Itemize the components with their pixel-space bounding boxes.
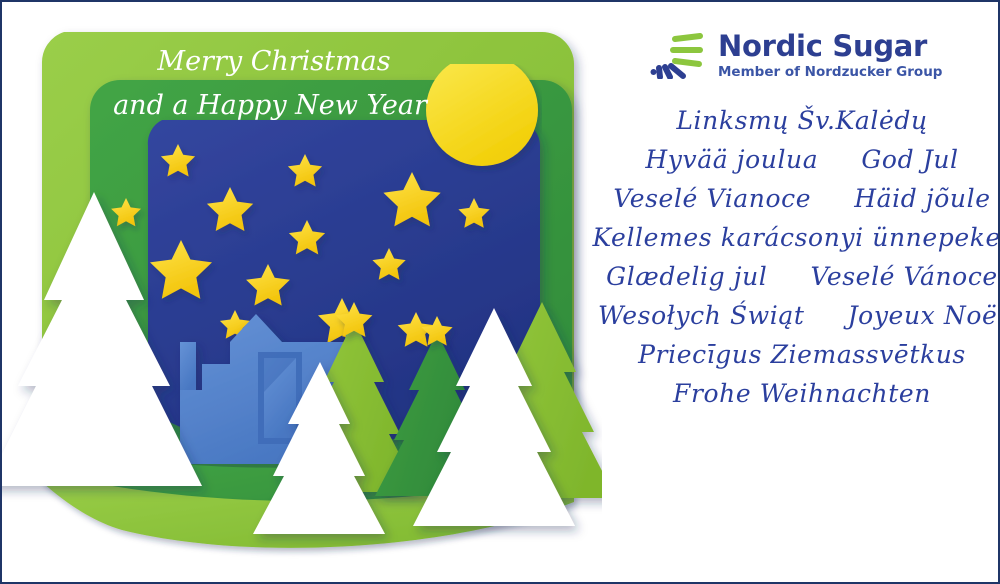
greeting-et: Häid jõule <box>854 184 990 213</box>
greeting-line-da-cs: Glædelig jul Veselé Vánoce <box>606 262 998 291</box>
headline-line1: Merry Christmas <box>156 46 390 77</box>
greeting-de: Frohe Weihnachten <box>673 379 931 408</box>
greeting-lt: Linksmų Šv.Kalėdų <box>676 106 927 135</box>
headline-line2: and a Happy New Year <box>113 90 429 121</box>
greeting-line-lt: Linksmų Šv.Kalėdų <box>676 106 927 135</box>
multilingual-greetings: Linksmų Šv.Kalėdų Hyvää joulua God Jul V… <box>602 106 1000 408</box>
greeting-sv: God Jul <box>861 145 958 174</box>
greeting-line-lv: Priecīgus Ziemassvētkus <box>638 340 966 369</box>
sun <box>426 54 538 166</box>
greeting-cs: Veselé Vánoce <box>811 262 998 291</box>
greeting-fi: Hyvää joulua <box>645 145 818 174</box>
greeting-line-hu: Kellemes karácsonyi ünnepeket <box>592 223 1000 252</box>
message-panel: Nordic Sugar Member of Nordzucker Group … <box>602 2 1000 584</box>
greeting-line-pl-fr: Wesołych Świąt Joyeux Noël <box>598 301 1000 330</box>
greeting-line-sk-et: Veselé Vianoce Häid jõule <box>613 184 990 213</box>
christmas-illustration: Merry Christmas and a Happy New Year <box>2 2 602 584</box>
greeting-sk: Veselé Vianoce <box>613 184 811 213</box>
greeting-card: Merry Christmas and a Happy New Year <box>0 0 1000 584</box>
logo-subtitle: Member of Nordzucker Group <box>718 66 942 80</box>
greeting-da: Glædelig jul <box>606 262 767 291</box>
greeting-line-fi-sv: Hyvää joulua God Jul <box>645 145 958 174</box>
sunburst-logo-icon <box>650 33 706 79</box>
logo-title: Nordic Sugar <box>718 32 942 61</box>
greeting-fr: Joyeux Noël <box>848 301 1000 330</box>
nordic-sugar-logo: Nordic Sugar Member of Nordzucker Group <box>602 32 1000 80</box>
greeting-pl: Wesołych Świąt <box>598 301 804 330</box>
greeting-hu: Kellemes karácsonyi ünnepeket <box>592 223 1000 252</box>
greeting-line-de: Frohe Weihnachten <box>673 379 931 408</box>
greeting-lv: Priecīgus Ziemassvētkus <box>638 340 966 369</box>
